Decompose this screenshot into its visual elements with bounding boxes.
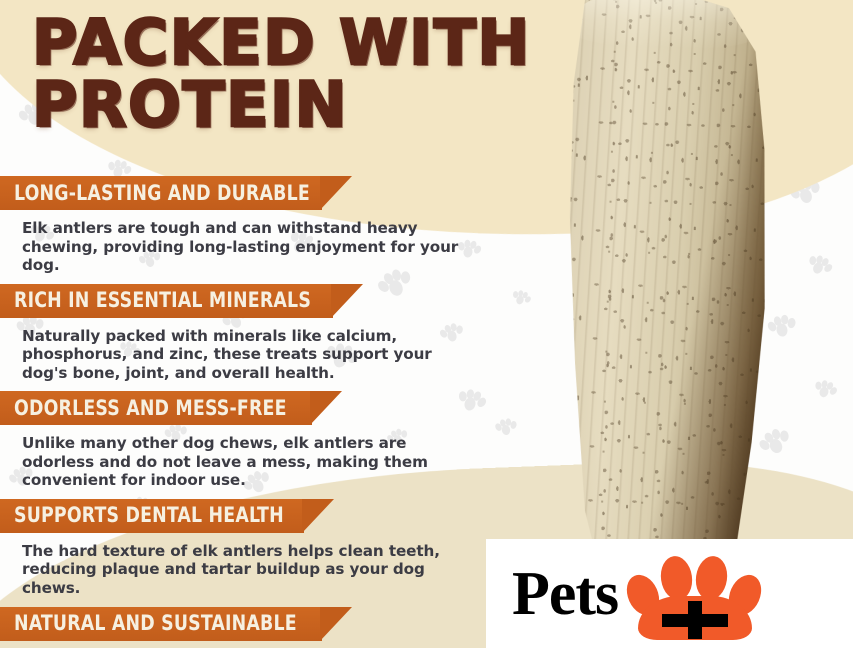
feature-heading-ribbon: NATURAL AND SUSTAINABLE	[0, 607, 322, 641]
feature-heading-ribbon: LONG-LASTING AND DURABLE	[0, 176, 322, 210]
poster-title: PACKED WITH PROTEIN	[32, 14, 592, 135]
paw-toe	[693, 554, 730, 602]
feature-heading-label: NATURAL AND SUSTAINABLE	[14, 613, 297, 634]
feature-body-text: Unlike many other dog chews, elk antlers…	[0, 431, 467, 499]
product-infographic: PACKED WITH PROTEIN LONG-LASTING AND DUR…	[0, 0, 853, 648]
feature-block: RICH IN ESSENTIAL MINERALS Naturally pac…	[0, 284, 540, 392]
feature-heading-label: LONG-LASTING AND DURABLE	[14, 183, 310, 204]
feature-heading-label: RICH IN ESSENTIAL MINERALS	[14, 290, 311, 311]
brand-logo: Pets	[486, 539, 853, 648]
feature-block: ODORLESS AND MESS-FREE Unlike many other…	[0, 391, 540, 499]
title-line-1: PACKED WITH	[32, 14, 592, 72]
feature-list: LONG-LASTING AND DURABLE Elk antlers are…	[0, 176, 540, 648]
feature-body-text: Naturally packed with minerals like calc…	[0, 324, 467, 392]
paw-toe	[658, 554, 695, 602]
feature-heading-label: ODORLESS AND MESS-FREE	[14, 398, 287, 419]
plus-vertical-bar	[688, 601, 702, 639]
brand-wordmark: Pets	[512, 563, 618, 625]
paw-with-plus-icon	[620, 548, 770, 640]
feature-body-text: Elk antlers are tough and can withstand …	[0, 216, 467, 284]
feature-heading-label: SUPPORTS DENTAL HEALTH	[14, 505, 284, 526]
feature-body-text: The hard texture of elk antlers helps cl…	[0, 539, 467, 607]
title-line-2: PROTEIN	[32, 76, 592, 134]
feature-heading-ribbon: RICH IN ESSENTIAL MINERALS	[0, 284, 333, 318]
feature-heading-ribbon: ODORLESS AND MESS-FREE	[0, 391, 312, 425]
feature-heading-ribbon: SUPPORTS DENTAL HEALTH	[0, 499, 304, 533]
feature-block: NATURAL AND SUSTAINABLE Sourced from nat…	[0, 607, 540, 648]
feature-block: LONG-LASTING AND DURABLE Elk antlers are…	[0, 176, 540, 284]
feature-block: SUPPORTS DENTAL HEALTH The hard texture …	[0, 499, 540, 607]
